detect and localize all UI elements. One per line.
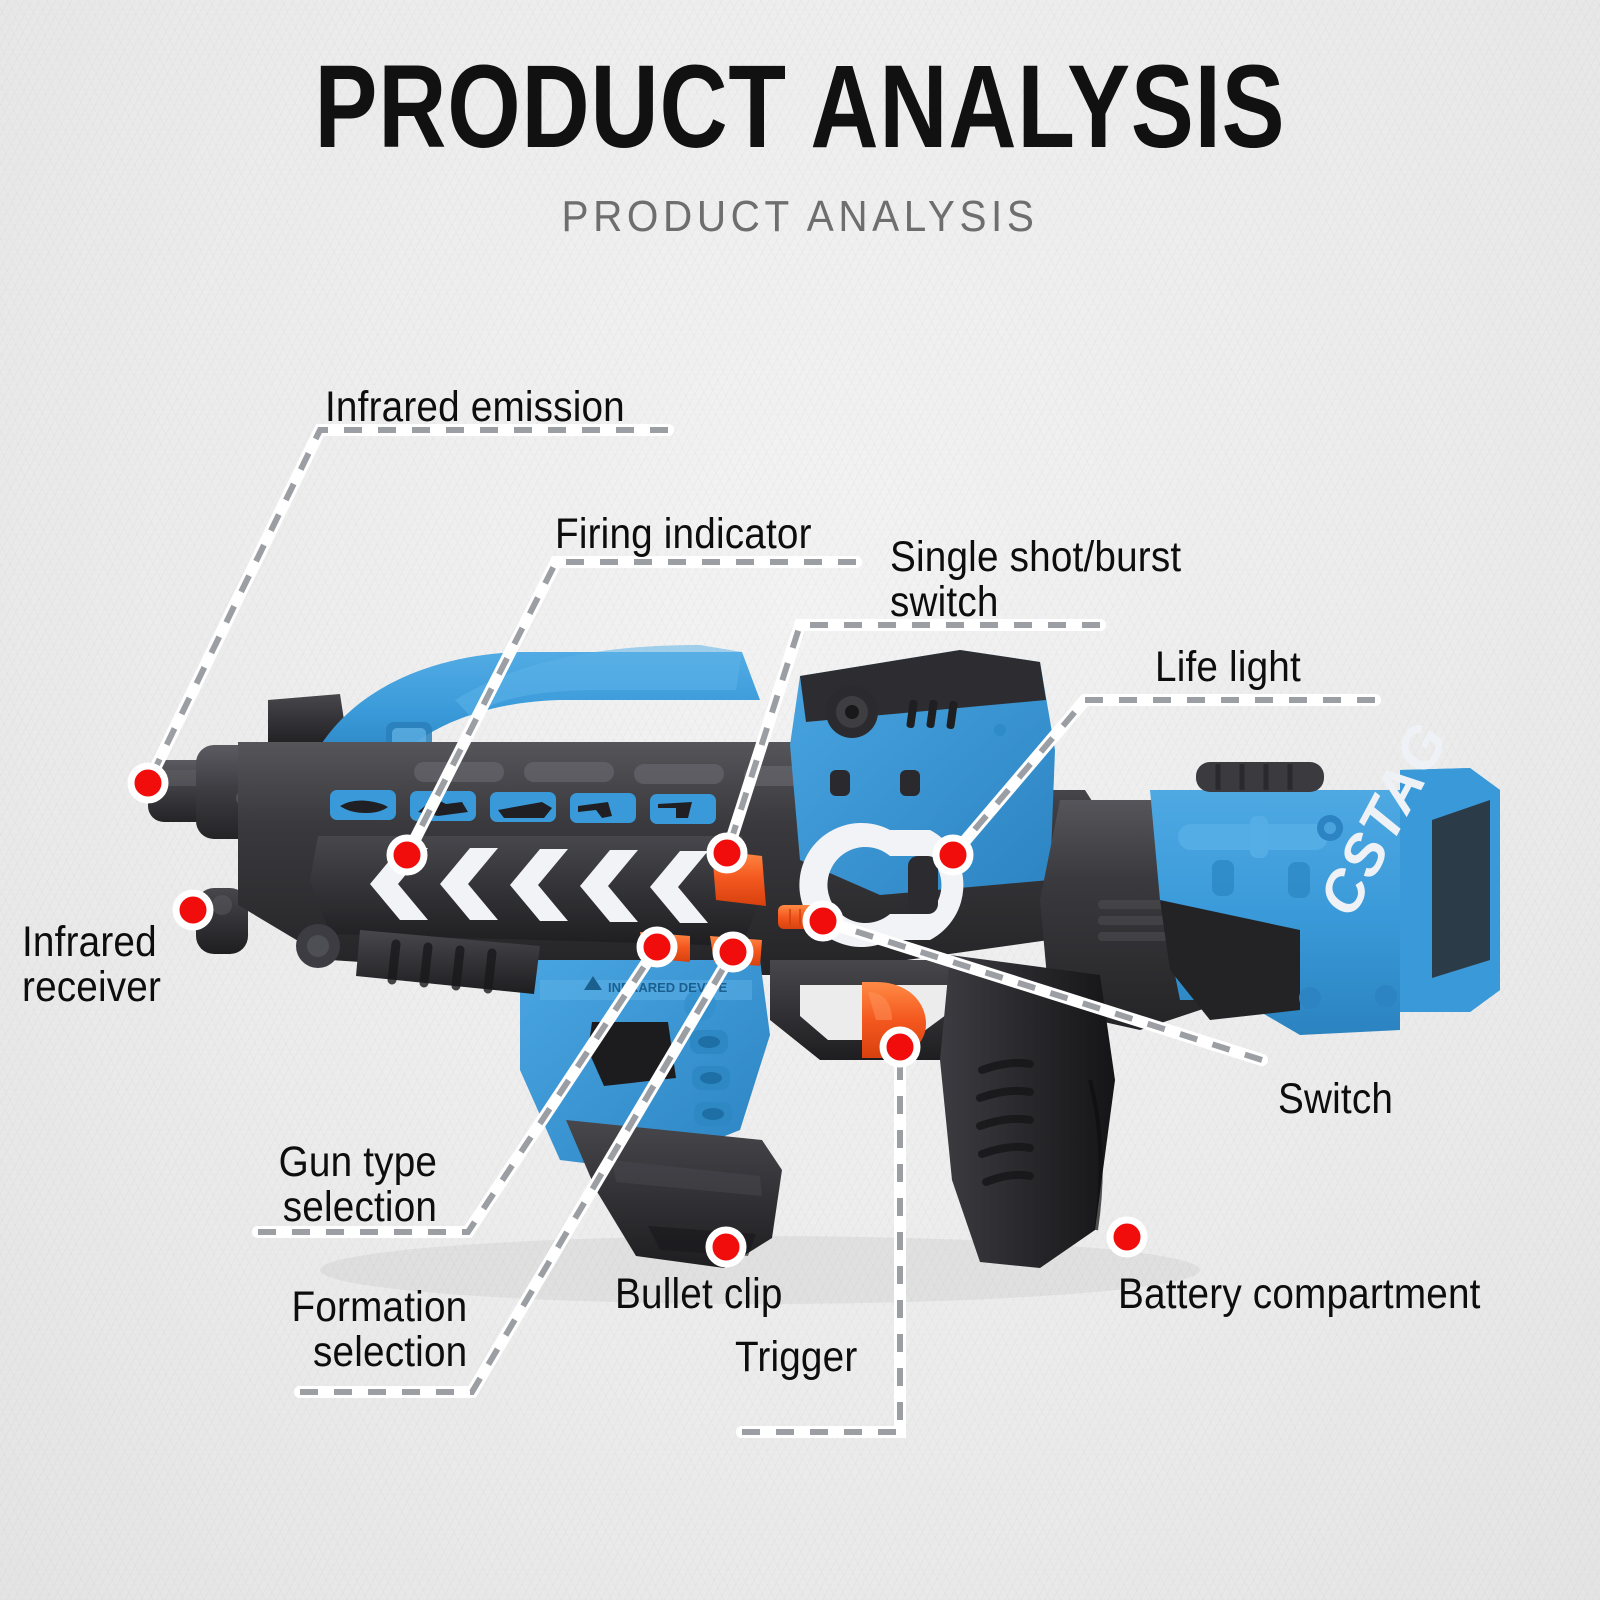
callout-label-battery-compartment: Battery compartment bbox=[1118, 1272, 1481, 1317]
callout-label-life-light: Life light bbox=[1155, 645, 1301, 690]
callout-label-bullet-clip: Bullet clip bbox=[615, 1272, 783, 1317]
marker-dot-formation-selection[interactable] bbox=[716, 935, 750, 969]
callout-label-formation-selection: Formationselection bbox=[291, 1285, 467, 1374]
callout-line-1: Single shot/burst bbox=[890, 533, 1181, 581]
callout-line-2: receiver bbox=[22, 963, 161, 1011]
callout-label-single-shot-burst: Single shot/burstswitch bbox=[890, 535, 1181, 624]
callout-line-1: Infrared bbox=[22, 918, 157, 966]
leader-front-life-light bbox=[953, 700, 1375, 855]
callout-label-infrared-emission: Infrared emission bbox=[325, 385, 625, 430]
marker-dot-single-shot-burst[interactable] bbox=[710, 836, 744, 870]
leader-front-firing-indicator bbox=[407, 562, 856, 855]
marker-dot-switch[interactable] bbox=[806, 904, 840, 938]
callout-label-switch: Switch bbox=[1278, 1077, 1393, 1122]
marker-dot-firing-indicator[interactable] bbox=[390, 838, 424, 872]
callout-label-gun-type-selection: Gun typeselection bbox=[279, 1140, 437, 1229]
marker-dot-bullet-clip[interactable] bbox=[709, 1230, 743, 1264]
leader-front-infrared-emission bbox=[148, 430, 668, 783]
marker-dot-infrared-receiver[interactable] bbox=[176, 893, 210, 927]
callout-label-trigger: Trigger bbox=[735, 1335, 857, 1380]
marker-dot-battery-compartment[interactable] bbox=[1110, 1220, 1144, 1254]
callout-line-1: Formation bbox=[291, 1283, 467, 1331]
callout-label-infrared-receiver: Infraredreceiver bbox=[22, 920, 161, 1009]
marker-dot-gun-type-selection[interactable] bbox=[640, 930, 674, 964]
callout-line-1: Gun type bbox=[279, 1138, 437, 1186]
callout-label-firing-indicator: Firing indicator bbox=[555, 512, 812, 557]
callout-line-2: switch bbox=[890, 578, 999, 626]
product-diagram: .ld-out{fill:none;stroke:#ffffff;stroke-… bbox=[0, 0, 1600, 1600]
callout-line-2: selection bbox=[283, 1183, 437, 1231]
marker-dot-trigger[interactable] bbox=[883, 1030, 917, 1064]
marker-dot-infrared-emission[interactable] bbox=[131, 766, 165, 800]
marker-dot-life-light[interactable] bbox=[936, 838, 970, 872]
callout-line-2: selection bbox=[313, 1328, 467, 1376]
